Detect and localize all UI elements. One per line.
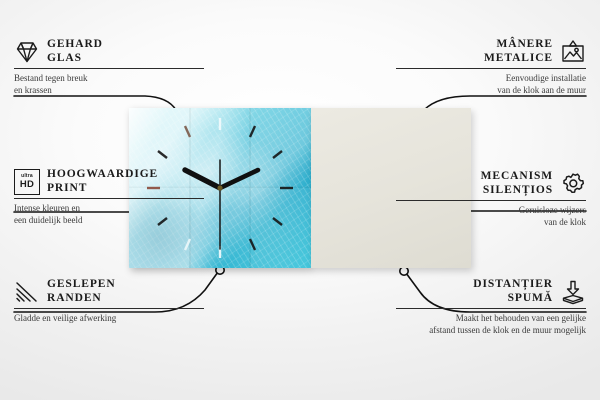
feature-description: Intense kleuren en een duidelijk beeld [14,203,204,226]
feature-description: Maakt het behouden van een gelijke afsta… [396,313,586,336]
diamond-icon [14,39,40,65]
divider [396,308,586,309]
clock-center-cap [217,185,222,190]
feature-description: Gladde en veilige afwerking [14,313,204,325]
infographic-canvas: GEHARD GLAS Bestand tegen breuk en krass… [0,0,600,400]
feature-hoogwaardige-print: ultra HD HOOGWAARDIGE PRINT Intense kleu… [14,168,204,226]
feature-title: GEHARD GLAS [47,38,103,65]
divider [14,198,204,199]
feature-title: MECANISM SILENȚIOS [481,170,553,197]
divider [396,68,586,69]
picture-frame-hanger-icon [560,39,586,65]
divider [396,200,586,201]
clock-minute-hand [220,170,258,188]
feature-title: MÂNERE METALICE [484,38,553,65]
ultra-hd-icon: ultra HD [14,169,40,195]
gear-icon [560,171,586,197]
feature-manere-metalice: MÂNERE METALICE Eenvoudige installatie v… [396,38,586,96]
divider [14,308,204,309]
leader-endpoint-spacer [400,267,408,275]
feature-mecanism-silentios: MECANISM SILENȚIOS Geruisloze wijzers va… [396,170,586,228]
divider [14,68,204,69]
spacer-arrow-icon [560,279,586,305]
feature-description: Geruisloze wijzers van de klok [396,205,586,228]
feature-gehard-glas: GEHARD GLAS Bestand tegen breuk en krass… [14,38,204,96]
feature-description: Eenvoudige installatie van de klok aan d… [396,73,586,96]
feature-description: Bestand tegen breuk en krassen [14,73,204,96]
feature-distantier-spuma: DISTANȚIER SPUMĂ Maakt het behouden van … [396,278,586,336]
beveled-edges-icon [14,279,40,305]
feature-geslepen-randen: GESLEPEN RANDEN Gladde en veilige afwerk… [14,278,204,325]
feature-title: HOOGWAARDIGE PRINT [47,168,158,195]
feature-title: DISTANȚIER SPUMĂ [473,278,553,305]
feature-title: GESLEPEN RANDEN [47,278,116,305]
